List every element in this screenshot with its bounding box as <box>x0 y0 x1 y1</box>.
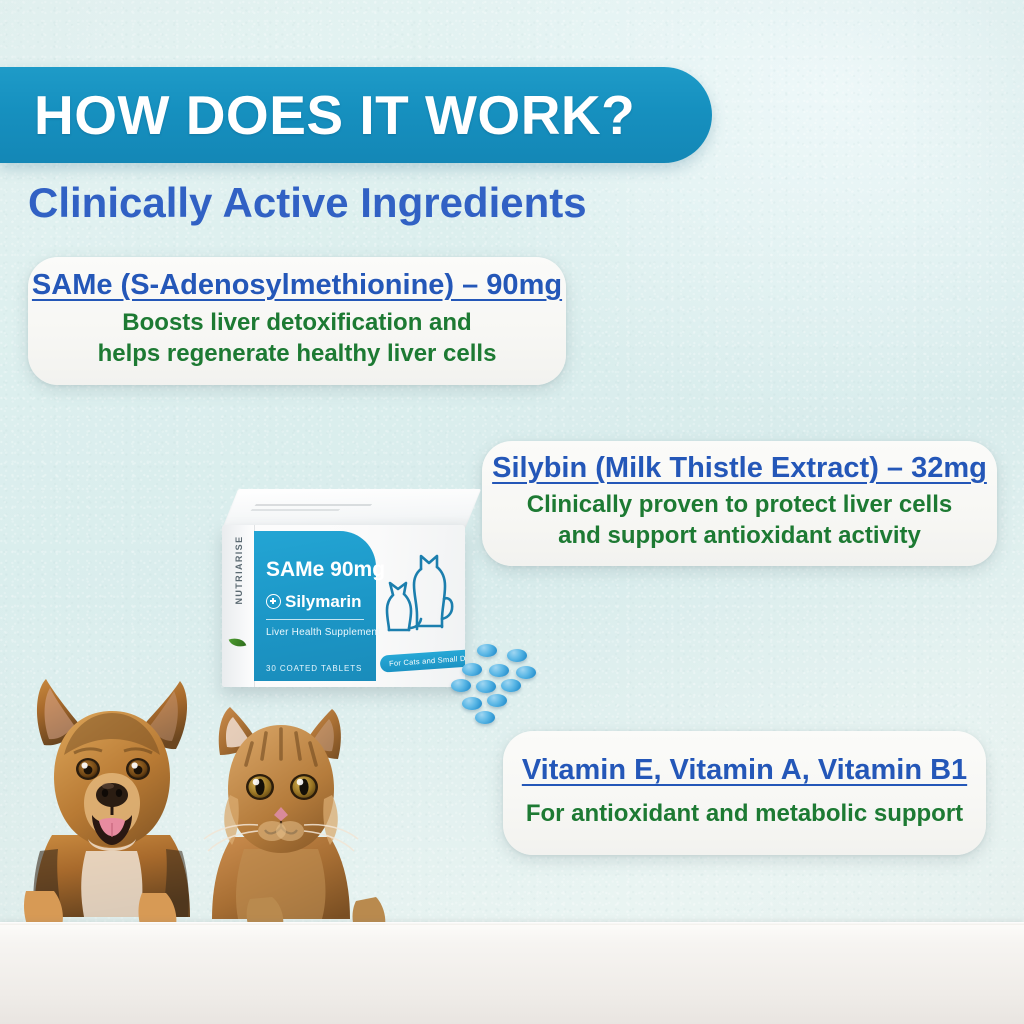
header-banner: HOW DOES IT WORK? <box>0 67 712 163</box>
tablet <box>462 697 482 710</box>
tablet <box>507 649 527 662</box>
tablet <box>489 664 509 677</box>
tablet <box>501 679 521 692</box>
cat-eye-right <box>290 774 318 800</box>
product-secondary-name-row: Silymarin <box>266 593 372 610</box>
cat-illustration <box>204 707 385 945</box>
ingredient-desc-silybin-line2: and support antioxidant activity <box>558 521 921 552</box>
tablet <box>487 694 507 707</box>
cat-eye-left <box>246 774 274 800</box>
tablet <box>477 644 497 657</box>
ingredient-card-vitamins: Vitamin E, Vitamin A, Vitamin B1 For ant… <box>503 731 986 855</box>
tablet <box>451 679 471 692</box>
dog-cat-silhouette-icon <box>380 543 458 641</box>
page-title: HOW DOES IT WORK? <box>34 88 635 143</box>
brand-name: NUTRIARISE <box>234 529 244 611</box>
dog-eye-right <box>126 758 150 780</box>
ledge-top-edge <box>0 922 1024 925</box>
product-secondary-name: Silymarin <box>285 593 362 610</box>
tablet <box>475 711 495 724</box>
tablet <box>462 663 482 676</box>
ingredient-desc-silybin-line1: Clinically proven to protect liver cells <box>527 490 952 521</box>
tablet <box>476 680 496 693</box>
infographic-canvas: HOW DOES IT WORK? Clinically Active Ingr… <box>0 0 1024 1024</box>
ingredient-title-silybin: Silybin (Milk Thistle Extract) – 32mg <box>492 452 987 485</box>
ingredient-desc-same-line1: Boosts liver detoxification and <box>122 308 471 339</box>
dog-eye-left <box>76 758 100 780</box>
leaf-icon <box>229 635 247 650</box>
ingredient-desc-same-line2: helps regenerate healthy liver cells <box>98 339 497 370</box>
pets-photo <box>0 655 400 955</box>
divider <box>266 619 364 620</box>
plus-icon <box>266 594 281 609</box>
ingredient-card-silybin: Silybin (Milk Thistle Extract) – 32mg Cl… <box>482 441 997 566</box>
dog-illustration <box>24 679 190 951</box>
ingredient-card-same: SAMe (S-Adenosylmethionine) – 90mg Boost… <box>28 257 566 385</box>
product-name: SAMe 90mg <box>266 559 370 580</box>
tablet <box>516 666 536 679</box>
white-ledge <box>0 922 1024 1024</box>
ingredient-title-vitamins: Vitamin E, Vitamin A, Vitamin B1 <box>522 754 967 787</box>
section-subtitle: Clinically Active Ingredients <box>28 180 587 226</box>
ingredient-title-same: SAMe (S-Adenosylmethionine) – 90mg <box>32 269 562 302</box>
ingredient-desc-vitamins-line1: For antioxidant and metabolic support <box>526 799 963 830</box>
product-descriptor: Liver Health Supplement <box>266 627 380 638</box>
product-box-top-text <box>246 501 459 517</box>
product-box-top-face <box>222 489 481 529</box>
